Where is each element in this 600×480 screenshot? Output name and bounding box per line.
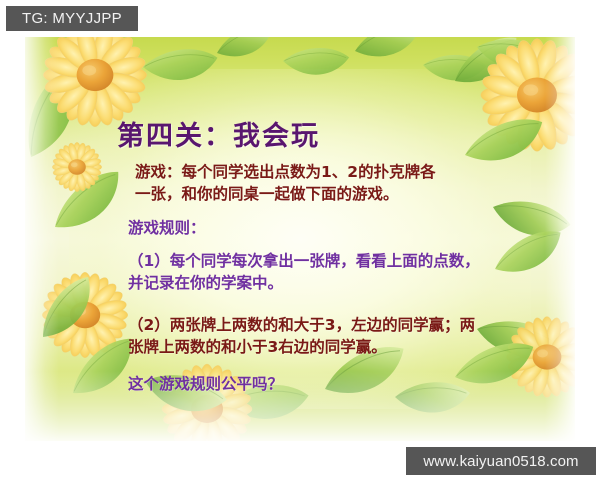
- slide-title: 第四关：我会玩: [117, 114, 320, 153]
- website-watermark: www.kaiyuan0518.com: [406, 447, 596, 475]
- slide-content: 第四关：我会玩 游戏：每个同学选出点数为1、2的扑克牌各 一张，和你的同桌一起做…: [25, 37, 575, 441]
- game-rule-1: （1）每个同学每次拿出一张牌，看看上面的点数， 并记录在你的学案中。: [128, 250, 548, 294]
- telegram-watermark: TG: MYYJJPP: [6, 6, 138, 31]
- game-intro-text: 游戏：每个同学选出点数为1、2的扑克牌各 一张，和你的同桌一起做下面的游戏。: [135, 161, 535, 205]
- screenshot-root: 第四关：我会玩 游戏：每个同学选出点数为1、2的扑克牌各 一张，和你的同桌一起做…: [0, 0, 600, 480]
- presentation-slide: 第四关：我会玩 游戏：每个同学选出点数为1、2的扑克牌各 一张，和你的同桌一起做…: [25, 37, 575, 441]
- game-rules-heading: 游戏规则：: [128, 217, 206, 239]
- fairness-question: 这个游戏规则公平吗？: [128, 373, 283, 395]
- game-rule-2: （2）两张牌上两数的和大于3，左边的同学赢；两 张牌上两数的和小于3右边的同学赢…: [128, 314, 548, 358]
